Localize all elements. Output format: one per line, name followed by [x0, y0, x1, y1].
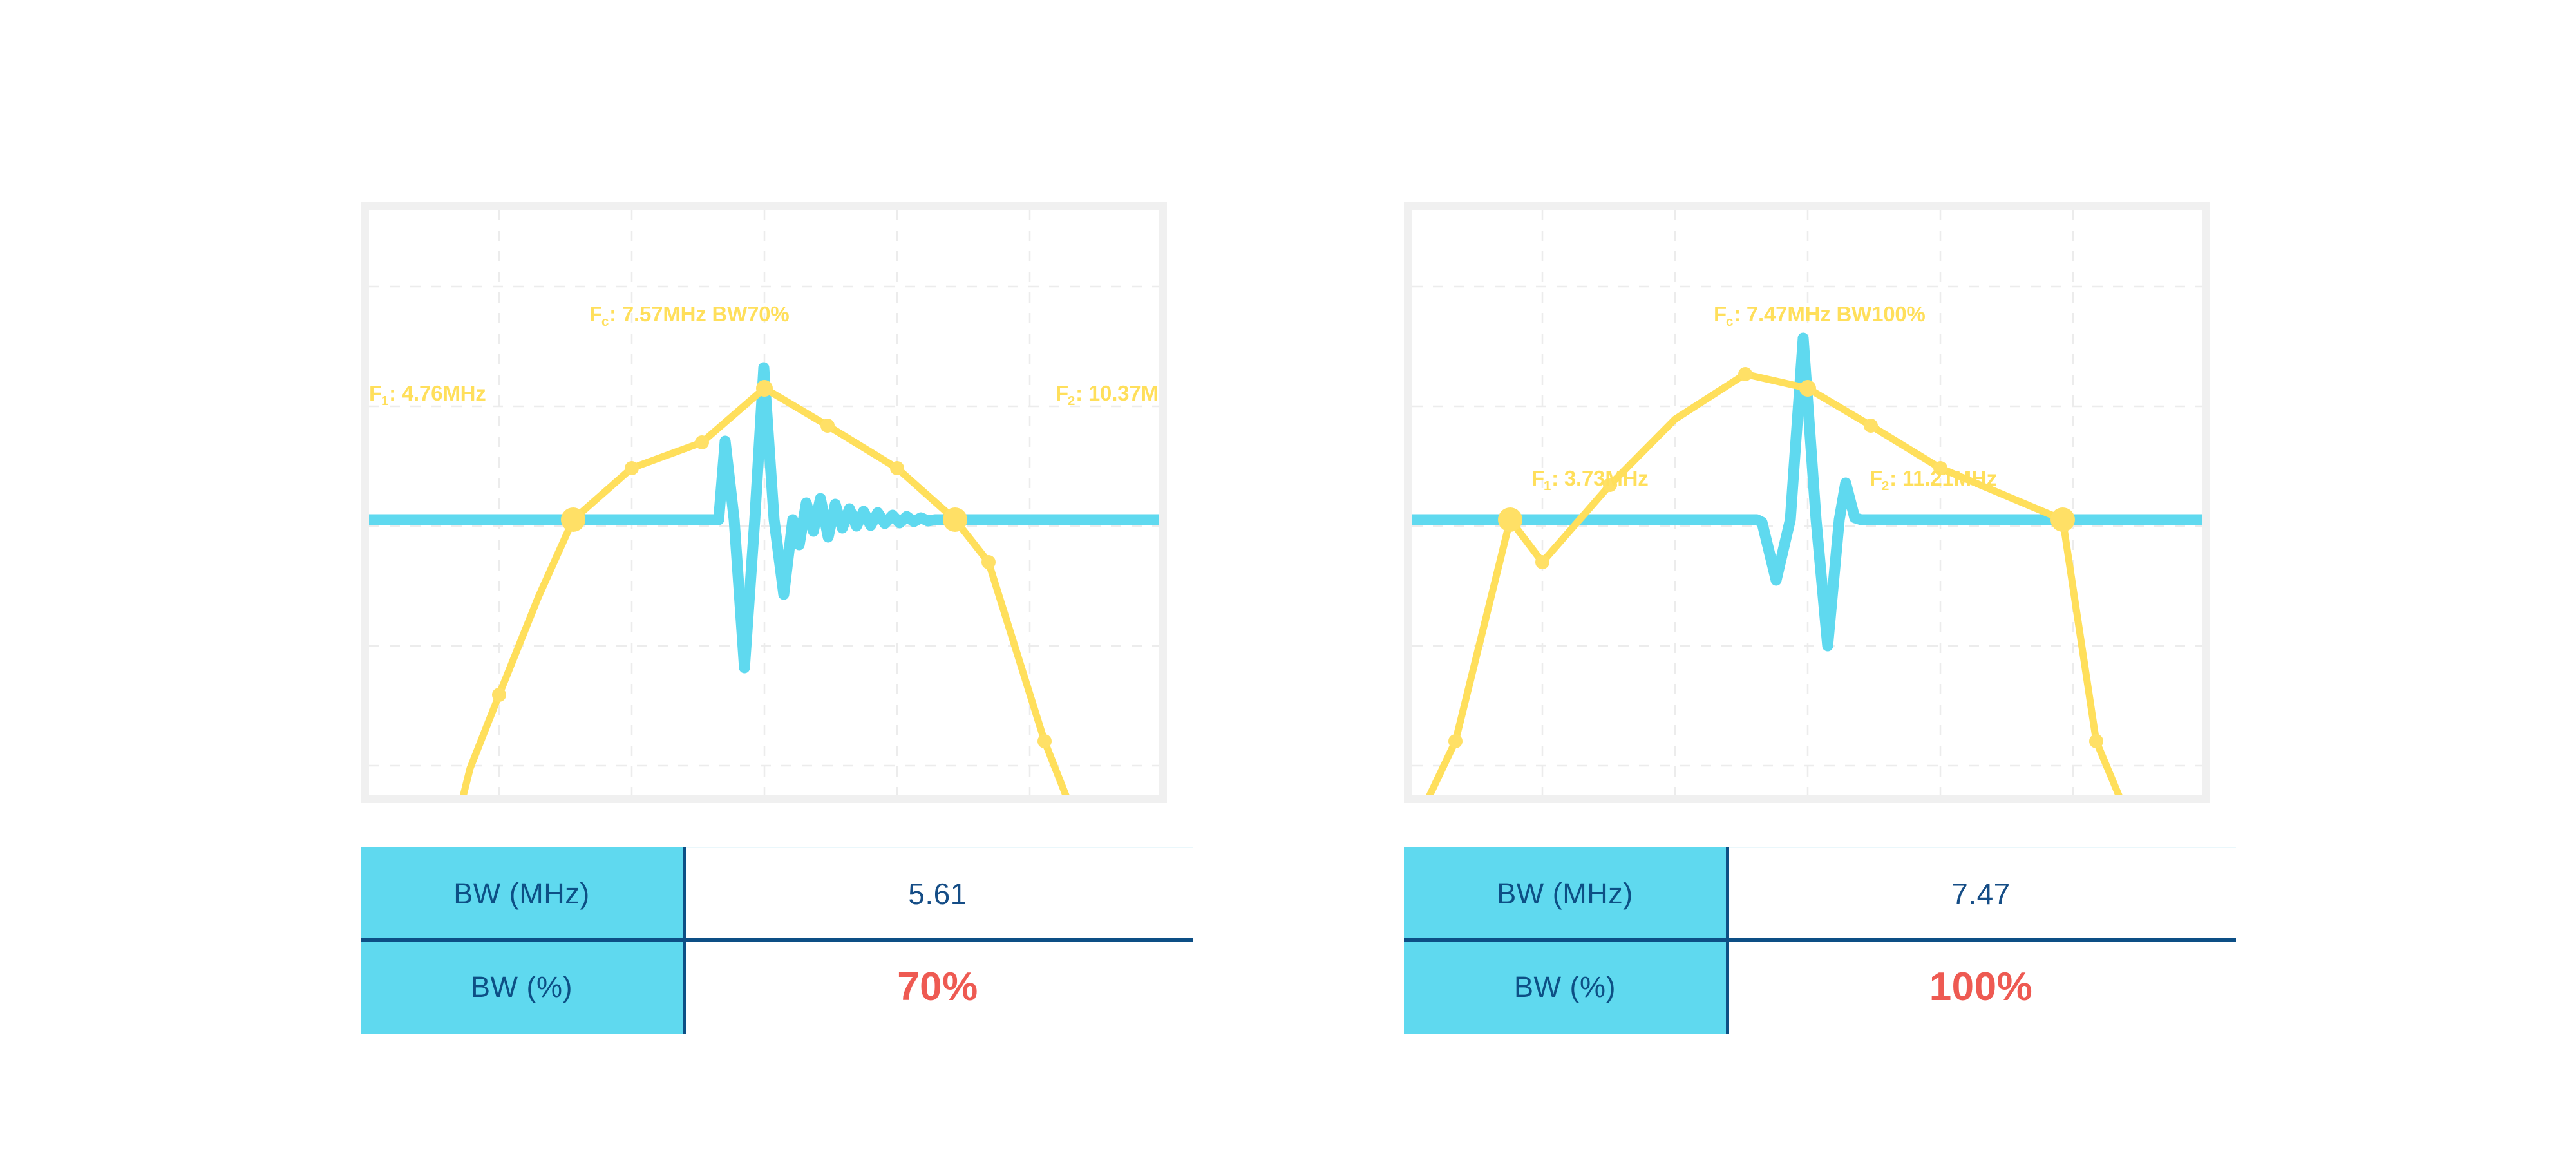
label-f2-subscript: 2	[1068, 393, 1075, 408]
table-value-cell: 5.61	[683, 847, 1193, 940]
label-f1-subscript: 1	[381, 393, 388, 408]
table-value-cell: 100%	[1726, 940, 2236, 1034]
table-value-text-highlight: 100%	[1929, 964, 2033, 1010]
table-row: BW (MHz) 7.47	[1404, 847, 2236, 940]
spectrum-plot-bw100	[1412, 210, 2202, 795]
table-key-label: BW (%)	[1514, 970, 1616, 1004]
chart-frame-bw70: Fc: 7.57MHz BW70% F1: 4.76MHz F2: 10.37M…	[361, 202, 1167, 803]
table-row: BW (MHz) 5.61	[361, 847, 1193, 940]
table-value-cell: 7.47	[1726, 847, 2236, 940]
table-key-label: BW (MHz)	[453, 877, 589, 911]
grid-lines	[369, 210, 1159, 795]
table-top-rule	[1726, 847, 2236, 848]
label-fc-bw100: Fc: 7.47MHz BW100%	[1714, 303, 1926, 325]
table-row: BW (%) 70%	[361, 940, 1193, 1034]
table-key-cell: BW (MHz)	[1404, 847, 1726, 940]
plot-area-bw70: Fc: 7.57MHz BW70% F1: 4.76MHz F2: 10.37M…	[369, 210, 1159, 795]
label-fc-text: : 7.47MHz BW100%	[1734, 302, 1926, 326]
table-key-cell: BW (MHz)	[361, 847, 683, 940]
label-f2-text: : 11.21MHz	[1889, 466, 1997, 490]
marker-f1-bw70	[561, 507, 585, 532]
panel-bw100: Fc: 7.47MHz BW100% F1: 3.73MHz F2: 11.21…	[1378, 0, 2228, 1154]
table-key-cell: BW (%)	[1404, 940, 1726, 1034]
table-row-divider	[1404, 938, 2236, 942]
bw-table-bw100: BW (MHz) 7.47 BW (%) 100%	[1404, 847, 2236, 1034]
label-fc-bw70: Fc: 7.57MHz BW70%	[589, 303, 790, 325]
label-f1-text: : 4.76MHz	[389, 381, 486, 405]
table-row: BW (%) 100%	[1404, 940, 2236, 1034]
label-fc-prefix: F	[589, 302, 602, 326]
table-value-cell: 70%	[683, 940, 1193, 1034]
table-value-text-highlight: 70%	[897, 964, 978, 1010]
label-f2-prefix: F	[1056, 381, 1068, 405]
marker-f1-bw100	[1498, 507, 1522, 532]
bw-table-bw70: BW (MHz) 5.61 BW (%) 70%	[361, 847, 1193, 1034]
label-fc-subscript: c	[601, 314, 609, 329]
label-f1-bw100: F1: 3.73MHz	[1531, 468, 1649, 489]
label-f2-bw100: F2: 11.21MHz	[1870, 468, 1997, 489]
label-fc-prefix: F	[1714, 302, 1727, 326]
table-key-label: BW (MHz)	[1497, 877, 1633, 911]
plot-area-bw100: Fc: 7.47MHz BW100% F1: 3.73MHz F2: 11.21…	[1412, 210, 2202, 795]
label-f1-prefix: F	[369, 381, 382, 405]
panel-bw70: Fc: 7.57MHz BW70% F1: 4.76MHz F2: 10.37M…	[335, 0, 1185, 1154]
label-f2-prefix: F	[1870, 466, 1882, 490]
marker-f2-bw70	[943, 507, 967, 532]
chart-frame-bw100: Fc: 7.47MHz BW100% F1: 3.73MHz F2: 11.21…	[1404, 202, 2210, 803]
comparison-stage: Fc: 7.57MHz BW70% F1: 4.76MHz F2: 10.37M…	[0, 0, 2576, 1154]
label-fc-subscript: c	[1726, 314, 1733, 329]
spectrum-plot-bw70	[369, 210, 1159, 795]
grid-lines	[1412, 210, 2202, 795]
table-key-label: BW (%)	[471, 970, 573, 1004]
label-f2-subscript: 2	[1882, 478, 1889, 493]
table-row-divider	[361, 938, 1193, 942]
label-f2-bw70: F2: 10.37MHz	[1056, 383, 1159, 404]
marker-f2-bw100	[2050, 507, 2075, 532]
table-top-rule	[683, 847, 1193, 848]
table-key-cell: BW (%)	[361, 940, 683, 1034]
label-f1-subscript: 1	[1544, 478, 1551, 493]
label-f2-text: : 10.37MHz	[1075, 381, 1159, 405]
table-value-text: 7.47	[1951, 876, 2011, 911]
table-value-text: 5.61	[908, 876, 967, 911]
label-f1-bw70: F1: 4.76MHz	[369, 383, 486, 404]
label-f1-text: : 3.73MHz	[1551, 466, 1648, 490]
label-fc-text: : 7.57MHz BW70%	[609, 302, 789, 326]
label-f1-prefix: F	[1531, 466, 1544, 490]
